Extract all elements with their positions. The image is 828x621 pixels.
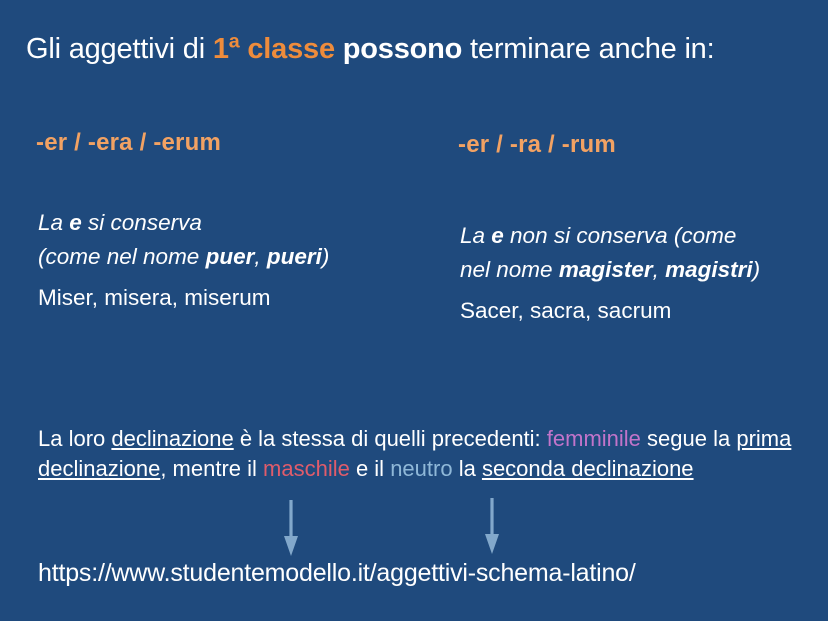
right-example-noun-gen: magistri (665, 257, 753, 282)
column-right-example: nel nome magister, magistri) (460, 257, 760, 282)
left-example-close: ) (322, 244, 330, 269)
left-rule-suffix: si conserva (82, 210, 202, 235)
source-url[interactable]: https://www.studentemodello.it/aggettivi… (38, 557, 636, 589)
note-seg3: è la stessa di quelli precedenti: (234, 426, 547, 451)
arrow-down-icon-left (280, 500, 302, 558)
title-highlight-superscript: a (229, 30, 240, 52)
column-left-body: La e si conserva (come nel nome puer, pu… (38, 206, 428, 315)
note-seg1: La loro (38, 426, 111, 451)
left-rule-bold-e: e (69, 210, 82, 235)
column-right-heading: -er / -ra / -rum (458, 131, 616, 159)
left-rule-prefix: La (38, 210, 69, 235)
declension-note: La loro declinazione è la stessa di quel… (38, 424, 798, 484)
note-femminile: femminile (547, 426, 641, 451)
note-maschile: maschile (263, 456, 350, 481)
note-neutro: neutro (390, 456, 452, 481)
column-left-example: (come nel nome puer, pueri) (38, 244, 329, 269)
column-left-forms: Miser, misera, miserum (38, 281, 428, 315)
left-example-separator: , (254, 244, 267, 269)
page-title: Gli aggettivi di 1a classe possono termi… (26, 30, 816, 68)
right-rule-bold-e: e (491, 223, 504, 248)
note-seg7: , mentre il (160, 456, 263, 481)
right-example-close: ) (753, 257, 761, 282)
note-declinazione-underlined: declinazione (111, 426, 233, 451)
column-right-rule: La e non si conserva (come (460, 223, 736, 248)
slide-canvas: Gli aggettivi di 1a classe possono termi… (0, 0, 828, 621)
title-highlight-number: 1 (213, 33, 229, 65)
right-example-noun-sg: magister (559, 257, 653, 282)
column-right-forms: Sacer, sacra, sacrum (460, 294, 828, 328)
title-highlight-word: classe (240, 33, 335, 65)
left-example-open: (come nel nome (38, 244, 206, 269)
left-example-noun-sg: puer (206, 244, 255, 269)
note-seg5: segue la (641, 426, 736, 451)
title-part2: terminare anche in: (462, 33, 714, 65)
right-rule-prefix: La (460, 223, 491, 248)
left-example-noun-gen: pueri (267, 244, 322, 269)
note-seg9: e il (350, 456, 390, 481)
column-right-body: La e non si conserva (come nel nome magi… (460, 219, 828, 328)
column-left-heading: -er / -era / -erum (36, 129, 221, 157)
note-seconda-declinazione-underlined: seconda declinazione (482, 456, 694, 481)
title-bold-word: possono (335, 33, 462, 65)
note-seg11: la (453, 456, 482, 481)
right-example-separator: , (653, 257, 666, 282)
title-part1: Gli aggettivi di (26, 33, 213, 65)
right-rule-suffix: non si conserva (come (504, 223, 737, 248)
arrow-down-icon-right (481, 498, 503, 556)
column-left-rule: La e si conserva (38, 210, 202, 235)
right-example-open: nel nome (460, 257, 559, 282)
